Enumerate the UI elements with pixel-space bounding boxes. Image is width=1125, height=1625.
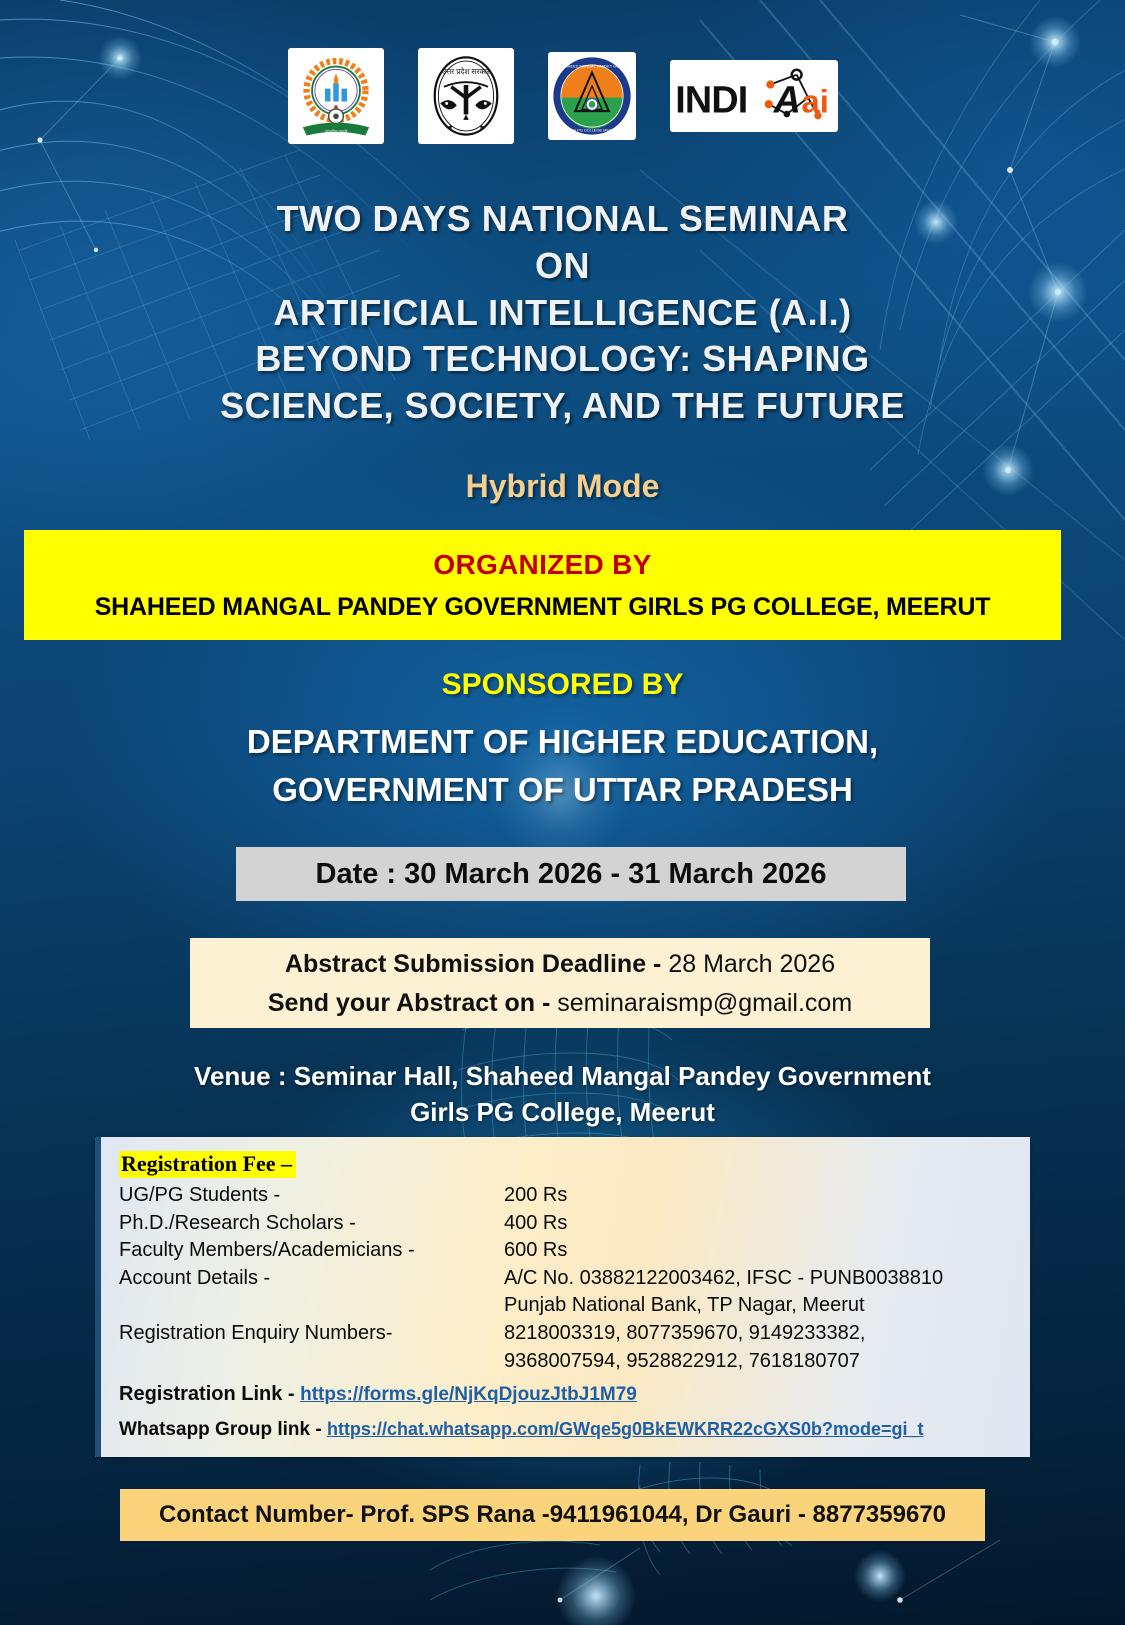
- svg-text:ai: ai: [801, 82, 828, 119]
- seminar-poster: सत्यमेव जयते उत्तर प्रदेश सरकार ★ ★: [0, 0, 1125, 1625]
- enquiry-numbers-line-2: 9368007594, 9528822912, 7618180707: [119, 1348, 1014, 1376]
- college-emblem-logo: SHAHEED MANGAL PANDEY GOVT GIRLS PG COLL…: [548, 52, 636, 140]
- contact-bar: Contact Number- Prof. SPS Rana -94119610…: [120, 1489, 985, 1541]
- registration-fee-row: UG/PG Students - 200 Rs: [119, 1182, 1014, 1210]
- title-line-3: ARTIFICIAL INTELLIGENCE (A.I.): [0, 290, 1125, 337]
- date-box: Date : 30 March 2026 - 31 March 2026: [236, 847, 906, 901]
- organized-by-banner: ORGANIZED BY SHAHEED MANGAL PANDEY GOVER…: [24, 530, 1061, 640]
- svg-text:GIRLS PG COLLEGE MEERUT: GIRLS PG COLLEGE MEERUT: [564, 128, 620, 132]
- abstract-email-line: Send your Abstract on - seminaraismp@gma…: [268, 984, 852, 1023]
- account-details-row: Account Details - A/C No. 03882122003462…: [119, 1265, 1014, 1293]
- venue-section: Venue : Seminar Hall, Shaheed Mangal Pan…: [0, 1058, 1125, 1131]
- whatsapp-link-label: Whatsapp Group link -: [119, 1419, 327, 1440]
- svg-text:INDI: INDI: [675, 78, 747, 120]
- mode-label: Hybrid Mode: [0, 468, 1125, 505]
- account-details-value: A/C No. 03882122003462, IFSC - PUNB00388…: [504, 1265, 1014, 1293]
- svg-text:★: ★: [447, 124, 453, 131]
- sponsored-by-section: SPONSORED BY DEPARTMENT OF HIGHER EDUCAT…: [0, 668, 1125, 814]
- title-line-5: SCIENCE, SOCIETY, AND THE FUTURE: [0, 383, 1125, 430]
- registration-fee-heading: Registration Fee –: [119, 1151, 296, 1178]
- sponsor-line-2: GOVERNMENT OF UTTAR PRADESH: [0, 766, 1125, 814]
- registration-link-url[interactable]: https://forms.gle/NjKqDjouzJtbJ1M79: [300, 1384, 637, 1405]
- abstract-email-value: seminaraismp@gmail.com: [550, 989, 852, 1017]
- organized-by-heading: ORGANIZED BY: [433, 549, 651, 581]
- registration-fee-row: Ph.D./Research Scholars - 400 Rs: [119, 1210, 1014, 1238]
- title-line-2: ON: [0, 243, 1125, 290]
- venue-line-1: Venue : Seminar Hall, Shaheed Mangal Pan…: [0, 1058, 1125, 1094]
- fee-value-ug-pg: 200 Rs: [504, 1182, 1014, 1210]
- title-line-1: TWO DAYS NATIONAL SEMINAR: [0, 196, 1125, 243]
- registration-link-label: Registration Link -: [119, 1383, 300, 1405]
- venue-line-2: Girls PG College, Meerut: [0, 1094, 1125, 1130]
- bank-branch-line: Punjab National Bank, TP Nagar, Meerut: [119, 1292, 1014, 1320]
- enquiry-numbers-label: Registration Enquiry Numbers-: [119, 1320, 504, 1348]
- sponsored-by-heading: SPONSORED BY: [0, 668, 1125, 702]
- svg-text:★: ★: [478, 124, 484, 131]
- poster-title: TWO DAYS NATIONAL SEMINAR ON ARTIFICIAL …: [0, 196, 1125, 430]
- enquiry-numbers-line-1: 8218003319, 8077359670, 9149233382,: [504, 1320, 1014, 1348]
- government-of-india-emblem-logo: सत्यमेव जयते: [288, 48, 384, 144]
- abstract-submission-box: Abstract Submission Deadline - 28 March …: [190, 938, 930, 1028]
- abstract-deadline-line: Abstract Submission Deadline - 28 March …: [285, 945, 835, 984]
- abstract-deadline-label: Abstract Submission Deadline -: [285, 950, 661, 978]
- sponsor-line-1: DEPARTMENT OF HIGHER EDUCATION,: [0, 718, 1125, 766]
- account-details-label: Account Details -: [119, 1265, 504, 1293]
- abstract-email-label: Send your Abstract on -: [268, 989, 550, 1017]
- whatsapp-link-url[interactable]: https://chat.whatsapp.com/GWqe5g0BkEWKRR…: [327, 1419, 924, 1439]
- whatsapp-link-row: Whatsapp Group link - https://chat.whats…: [119, 1414, 1014, 1445]
- fee-value-phd: 400 Rs: [504, 1210, 1014, 1238]
- registration-link-row: Registration Link - https://forms.gle/Nj…: [119, 1379, 1014, 1410]
- fee-label-ug-pg: UG/PG Students -: [119, 1182, 504, 1210]
- uttar-pradesh-government-logo: उत्तर प्रदेश सरकार ★ ★: [418, 48, 514, 144]
- fee-label-faculty: Faculty Members/Academicians -: [119, 1237, 504, 1265]
- seminar-date: Date : 30 March 2026 - 31 March 2026: [316, 858, 827, 891]
- svg-text:SHAHEED MANGAL PANDEY GOVT: SHAHEED MANGAL PANDEY GOVT: [559, 64, 624, 68]
- india-ai-logo: INDI A ai: [670, 60, 838, 132]
- organizing-institution: SHAHEED MANGAL PANDEY GOVERNMENT GIRLS P…: [95, 593, 991, 622]
- svg-text:A: A: [772, 78, 800, 120]
- enquiry-numbers-row: Registration Enquiry Numbers- 8218003319…: [119, 1320, 1014, 1348]
- logo-row: सत्यमेव जयते उत्तर प्रदेश सरकार ★ ★: [0, 48, 1125, 144]
- svg-text:सत्यमेव जयते: सत्यमेव जयते: [324, 129, 347, 135]
- registration-fee-row: Faculty Members/Academicians - 600 Rs: [119, 1237, 1014, 1265]
- svg-text:उत्तर प्रदेश सरकार: उत्तर प्रदेश सरकार: [442, 67, 491, 76]
- fee-value-faculty: 600 Rs: [504, 1237, 1014, 1265]
- title-line-4: BEYOND TECHNOLOGY: SHAPING: [0, 336, 1125, 383]
- fee-label-phd: Ph.D./Research Scholars -: [119, 1210, 504, 1238]
- registration-details-box: Registration Fee – UG/PG Students - 200 …: [95, 1137, 1030, 1457]
- contact-numbers: Contact Number- Prof. SPS Rana -94119610…: [159, 1501, 946, 1529]
- abstract-deadline-value: 28 March 2026: [661, 950, 835, 978]
